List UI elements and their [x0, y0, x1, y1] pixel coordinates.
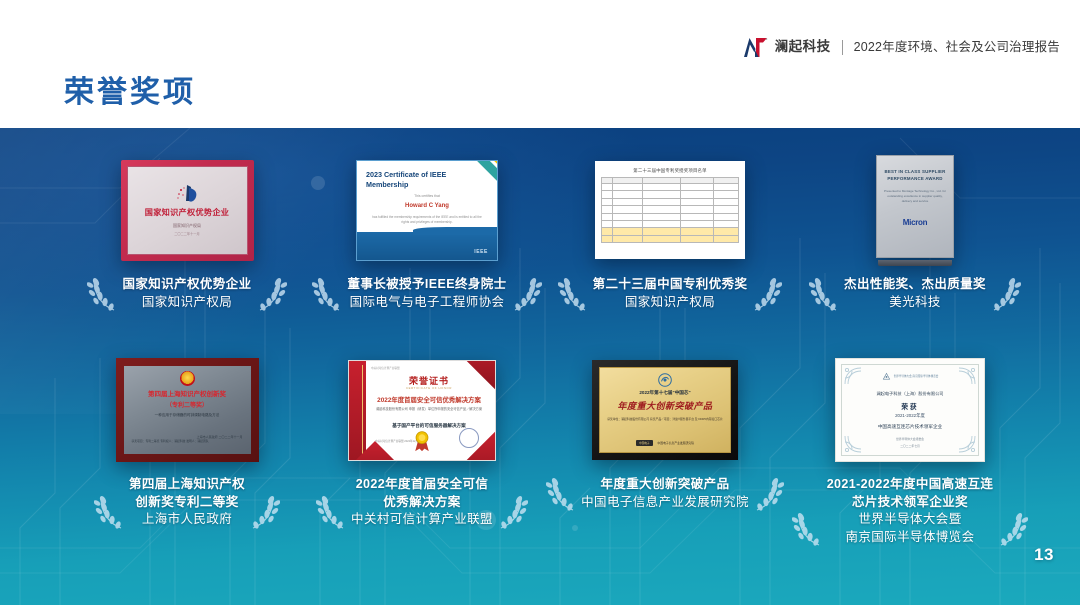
caption-line-1a: 国家知识产权优势企业: [122, 276, 251, 294]
caption-line-6c: 中关村可信计算产业联盟: [351, 511, 493, 529]
plaque-shanghai-ip-innovation: 第四届上海知识产权创新奖 （专利二等奖） 一种应用于存储器的时钟调制电路及方法 …: [116, 358, 259, 462]
awards-grid: 国家知识产权优势企业 国家知识产权局 二〇二二年十一月: [0, 128, 1080, 605]
laurel-left-icon: [316, 486, 346, 530]
award-artwork-5: 第四届上海知识产权创新奖 （专利二等奖） 一种应用于存储器的时钟调制电路及方法 …: [62, 350, 312, 470]
laurel-right-icon: [991, 268, 1021, 312]
gold-plaque-seal: 中国电子: [636, 440, 652, 446]
cert-white-org-logo: 世界半导体大会 南京国际半导体博览会: [836, 372, 984, 381]
award-card-6[interactable]: 中关村可信计算产业联盟 荣誉证书 CERTIFICATE OF HONOR 20…: [297, 350, 547, 529]
laurel-left-icon: [312, 268, 342, 312]
award-caption-2: 董事长被授予IEEE终身院士 国际电气与电子工程师协会: [313, 276, 540, 311]
award-artwork-1: 国家知识产权优势企业 国家知识产权局 二〇二二年十一月: [62, 150, 312, 270]
caption-line-5a: 第四届上海知识产权: [129, 476, 245, 494]
laurel-right-icon: [998, 503, 1028, 547]
honor-cert-top-note: 中关村可信计算产业联盟: [371, 366, 400, 370]
award-artwork-2: 2023 Certificate of IEEE Membership This…: [302, 150, 552, 270]
micron-plaque-base: [878, 260, 952, 266]
award-caption-1: 国家知识产权优势企业 国家知识产权局: [88, 276, 285, 311]
patent-award-table: [601, 177, 739, 243]
caption-line-3a: 第二十三届中国专利优秀奖: [593, 276, 748, 294]
cert-white-line2: 荣获: [836, 401, 984, 411]
document-patent-award-list: 第二十三届中国专利奖授奖项目名单: [595, 161, 745, 259]
cert-white-line4: 中国高速互连芯片技术领军企业: [836, 424, 984, 430]
laurel-right-icon: [257, 268, 287, 312]
certificate-honor-trusted-computing: 中关村可信计算产业联盟 荣誉证书 CERTIFICATE OF HONOR 20…: [348, 360, 496, 461]
plaque-org-1: 国家知识产权局: [173, 223, 201, 229]
caption-line-1b: 国家知识产权局: [122, 294, 251, 312]
award-card-3[interactable]: 第二十三届中国专利奖授奖项目名单: [545, 150, 795, 311]
gold-plaque-body: 获奖单位：澜起科技股份有限公司 获奖产品／项目：津逮®服务器平台 及 DDR5内…: [601, 417, 729, 422]
caption-line-4a: 杰出性能奖、杰出质量奖: [844, 276, 986, 294]
laurel-right-icon: [250, 486, 280, 530]
award-caption-5: 第四届上海知识产权 创新奖专利二等奖 上海市人民政府: [95, 476, 279, 529]
caption-line-2b: 国际电气与电子工程师协会: [347, 294, 506, 312]
ieee-cert-tiny: This certifies that: [357, 194, 497, 198]
honor-cert-date: 中关村可信计算产业联盟 2022年12月: [375, 440, 418, 444]
award-artwork-3: 第二十三届中国专利奖授奖项目名单: [545, 150, 795, 270]
caption-line-7a: 年度重大创新突破产品: [581, 476, 749, 494]
certificate-semiconductor-leader: 世界半导体大会 南京国际半导体博览会 澜起电子科技（上海）股份有限公司 荣获 2…: [835, 358, 985, 462]
cert-white-line1: 澜起电子科技（上海）股份有限公司: [836, 391, 984, 397]
laurel-left-icon: [809, 268, 839, 312]
award-card-1[interactable]: 国家知识产权优势企业 国家知识产权局 二〇二二年十一月: [62, 150, 312, 311]
brand-name: 澜起科技: [775, 40, 831, 54]
caption-line-8d: 南京国际半导体博览会: [827, 529, 994, 547]
gold-medal-icon: [414, 430, 431, 452]
header-separator: [842, 40, 843, 55]
sh-plaque-desc: 一种应用于存储器的时钟调制电路及方法: [155, 413, 220, 418]
cert-white-line5: 世界半导体大会组委会: [836, 437, 984, 441]
caption-line-6b: 优秀解决方案: [351, 494, 493, 512]
award-artwork-8: 世界半导体大会 南京国际半导体博览会 澜起电子科技（上海）股份有限公司 荣获 2…: [785, 350, 1035, 470]
doc-title-3: 第二十三届中国专利奖授奖项目名单: [601, 168, 739, 174]
sh-plaque-title: 第四届上海知识产权创新奖: [148, 389, 226, 398]
gold-plaque-footer: 中国电子 中国电子信息产业发展研究院: [600, 440, 730, 446]
caption-line-7b: 中国电子信息产业发展研究院: [581, 494, 749, 512]
laurel-right-icon: [752, 268, 782, 312]
caption-line-2a: 董事长被授予IEEE终身院士: [347, 276, 506, 294]
ieee-cert-name: Howard C Yang: [357, 203, 497, 209]
honor-cert-en: CERTIFICATE OF HONOR: [373, 386, 485, 390]
page-title: 荣誉奖项: [64, 76, 196, 109]
award-artwork-4: BEST IN CLASS SUPPLIER PERFORMANCE AWARD…: [790, 150, 1040, 270]
caption-line-8b: 芯片技术领军企业奖: [827, 494, 994, 512]
award-card-5[interactable]: 第四届上海知识产权创新奖 （专利二等奖） 一种应用于存储器的时钟调制电路及方法 …: [62, 350, 312, 529]
slide-page: 澜起科技 2022年度环境、社会及公司治理报告 荣誉奖项: [0, 0, 1080, 605]
certificate-ieee-membership: 2023 Certificate of IEEE Membership This…: [356, 160, 498, 261]
plaque-note-1: 二〇二二年十一月: [174, 231, 200, 236]
sh-plaque-subtitle: （专利二等奖）: [166, 400, 208, 409]
laurel-left-icon: [546, 468, 576, 512]
sh-plaque-right-lines: 上海市人民政府 二〇二二年十一月: [197, 435, 243, 440]
award-artwork-7: 2022年第十七届"中国芯" 年度重大创新突破产品 获奖单位：澜起科技股份有限公…: [540, 350, 790, 470]
cert-white-line6: 二〇二二年七月: [836, 444, 984, 448]
plaque-china-chip-innovation: 2022年第十七届"中国芯" 年度重大创新突破产品 获奖单位：澜起科技股份有限公…: [592, 360, 738, 460]
plaque-national-ip-advantage: 国家知识产权优势企业 国家知识产权局 二〇二二年十一月: [121, 160, 254, 261]
plaque-micron-supplier-award: BEST IN CLASS SUPPLIER PERFORMANCE AWARD…: [876, 155, 954, 265]
award-caption-3: 第二十三届中国专利优秀奖 国家知识产权局: [559, 276, 782, 311]
page-number: 13: [1034, 545, 1054, 565]
honor-cert-body: 澜起科技股份有限公司 申报（研发）单位所申报的安全可信产品／解决方案: [375, 407, 483, 412]
caption-line-5b: 创新奖专利二等奖: [129, 494, 245, 512]
award-artwork-6: 中关村可信计算产业联盟 荣誉证书 CERTIFICATE OF HONOR 20…: [297, 350, 547, 470]
ieee-cert-title: 2023 Certificate of IEEE Membership: [366, 170, 450, 190]
award-caption-6: 2022年度首届安全可信 优秀解决方案 中关村可信计算产业联盟: [317, 476, 527, 529]
ieee-cert-body: has fulfilled the membership requirement…: [371, 215, 483, 225]
award-card-4[interactable]: BEST IN CLASS SUPPLIER PERFORMANCE AWARD…: [790, 150, 1040, 311]
micron-logo-text: Micron: [903, 218, 927, 227]
ieee-logo-mark: IEEE: [474, 249, 488, 255]
sh-plaque-left-lines: 获奖项目：专利二等奖 专利权人：澜起科技 发明人：澜起团队: [132, 439, 209, 444]
semiconductor-conf-logo-icon: [882, 372, 891, 381]
award-card-8[interactable]: 世界半导体大会 南京国际半导体博览会 澜起电子科技（上海）股份有限公司 荣获 2…: [785, 350, 1035, 546]
laurel-left-icon: [792, 503, 822, 547]
gold-plaque-foot-text: 中国电子信息产业发展研究院: [658, 441, 694, 445]
plaque-title-1: 国家知识产权优势企业: [145, 206, 229, 218]
honor-cert-side-band: [349, 361, 366, 460]
laurel-right-icon: [512, 268, 542, 312]
laurel-left-icon: [94, 486, 124, 530]
laurel-right-icon: [498, 486, 528, 530]
award-card-7[interactable]: 2022年第十七届"中国芯" 年度重大创新突破产品 获奖单位：澜起科技股份有限公…: [540, 350, 790, 511]
caption-line-6a: 2022年度首届安全可信: [351, 476, 493, 494]
ieee-cert-footer-band: [357, 232, 497, 260]
ccid-logo-icon: [658, 373, 672, 387]
micron-plaque-sub: Presented to Montage Technology Co., Ltd…: [884, 189, 946, 204]
caption-line-5c: 上海市人民政府: [129, 511, 245, 529]
honor-cert-main: 2022年度首届安全可信优秀解决方案: [373, 395, 485, 404]
report-title: 2022年度环境、社会及公司治理报告: [854, 41, 1060, 54]
official-stamp-icon: [459, 428, 479, 448]
gold-plaque-t2: 年度重大创新突破产品: [617, 399, 712, 412]
award-caption-7: 年度重大创新突破产品 中国电子信息产业发展研究院: [547, 476, 783, 511]
gold-plaque-t1: 2022年第十七届"中国芯": [639, 390, 690, 396]
header: 澜起科技 2022年度环境、社会及公司治理报告: [743, 34, 1060, 60]
award-card-2[interactable]: 2023 Certificate of IEEE Membership This…: [302, 150, 552, 311]
caption-line-3b: 国家知识产权局: [593, 294, 748, 312]
cert-white-org-text: 世界半导体大会 南京国际半导体博览会: [894, 375, 939, 378]
caption-line-8c: 世界半导体大会暨: [827, 511, 994, 529]
award-caption-8: 2021-2022年度中国高速互连 芯片技术领军企业奖 世界半导体大会暨 南京国…: [793, 476, 1028, 546]
ip-office-logo-icon: [174, 184, 200, 204]
awards-stage: 国家知识产权优势企业 国家知识产权局 二〇二二年十一月: [0, 128, 1080, 605]
laser-m-logo-icon: [743, 36, 768, 58]
national-emblem-icon: [180, 371, 195, 386]
caption-line-4b: 美光科技: [844, 294, 986, 312]
laurel-left-icon: [558, 268, 588, 312]
laurel-right-icon: [754, 468, 784, 512]
caption-line-8a: 2021-2022年度中国高速互连: [827, 476, 994, 494]
award-caption-4: 杰出性能奖、杰出质量奖 美光科技: [810, 276, 1020, 311]
laurel-left-icon: [87, 268, 117, 312]
cert-white-line3: 2021-2022年度: [836, 413, 984, 419]
micron-plaque-title: BEST IN CLASS SUPPLIER PERFORMANCE AWARD: [884, 168, 946, 182]
